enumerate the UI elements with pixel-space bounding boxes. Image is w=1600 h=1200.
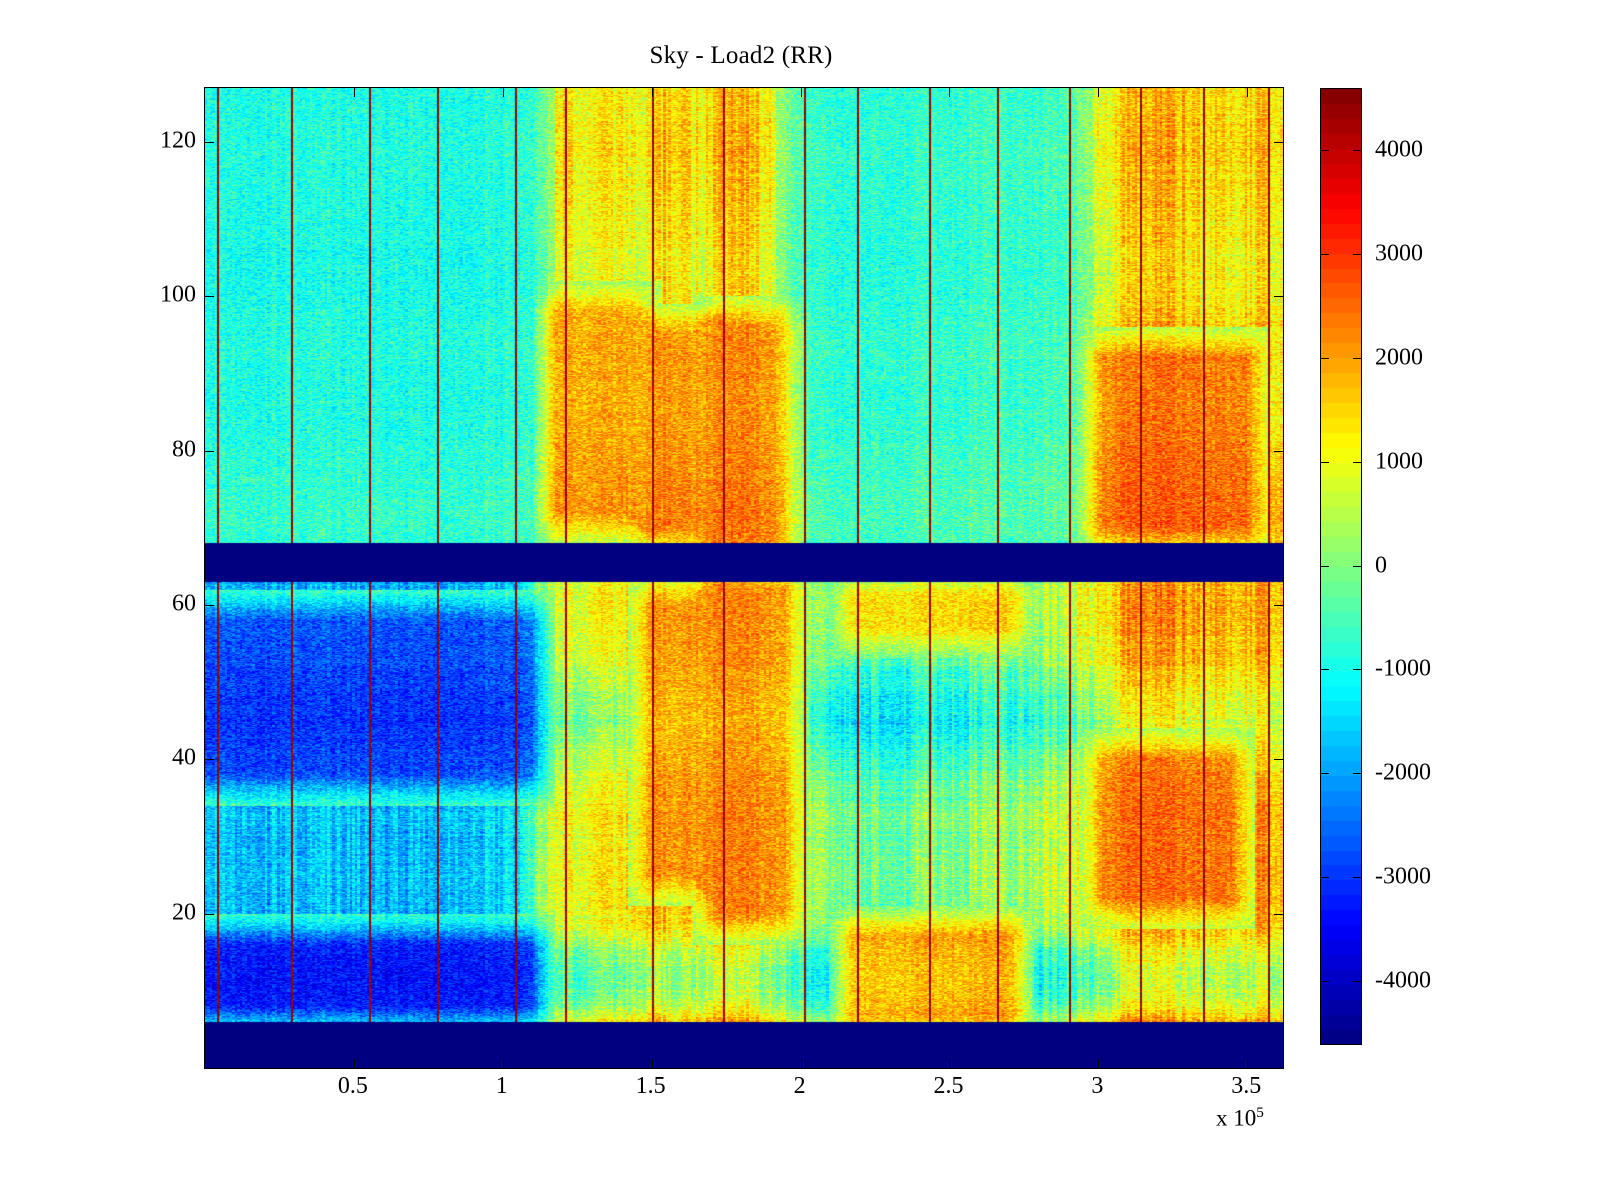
y-tick-mark xyxy=(205,605,214,606)
colorbar-tick-mark xyxy=(1321,877,1329,878)
x-tick-mark xyxy=(503,1059,504,1068)
y-tick-label: 120 xyxy=(160,128,196,155)
colorbar-tick-mark xyxy=(1321,150,1329,151)
colorbar-tick-label: -1000 xyxy=(1375,656,1431,683)
x-axis-exponent-mantissa: x 10 xyxy=(1216,1106,1256,1131)
heatmap-image xyxy=(205,88,1283,1068)
x-tick-mark xyxy=(949,1059,950,1068)
colorbar-tick-label: 4000 xyxy=(1375,137,1423,164)
page-title: Sky - Load2 (RR) xyxy=(0,42,1482,70)
x-axis-exponent-power: 5 xyxy=(1256,1104,1264,1121)
x-tick-mark xyxy=(354,88,355,97)
colorbar-tick-mark xyxy=(1321,358,1329,359)
colorbar-tick-mark xyxy=(1321,566,1329,567)
x-tick-mark xyxy=(1247,88,1248,97)
y-tick-mark xyxy=(1274,451,1283,452)
colorbar-tick-label: 2000 xyxy=(1375,344,1423,371)
x-tick-mark xyxy=(652,1059,653,1068)
colorbar-tick-mark xyxy=(1353,462,1361,463)
colorbar-tick-label: -2000 xyxy=(1375,760,1431,787)
y-tick-label: 20 xyxy=(172,899,196,926)
colorbar-tick-mark xyxy=(1353,877,1361,878)
x-axis-exponent-label: x 105 xyxy=(1216,1104,1264,1132)
y-tick-label: 100 xyxy=(160,282,196,309)
y-tick-mark xyxy=(205,451,214,452)
y-tick-mark xyxy=(1274,759,1283,760)
colorbar-tick-mark xyxy=(1353,150,1361,151)
colorbar-tick-label: 1000 xyxy=(1375,448,1423,475)
x-tick-mark xyxy=(1247,1059,1248,1068)
figure-canvas: Sky - Load2 (RR) 0.511.522.533.5 1201008… xyxy=(0,0,1600,1200)
colorbar[interactable] xyxy=(1320,88,1362,1045)
colorbar-tick-label: -4000 xyxy=(1375,967,1431,994)
colorbar-tick-mark xyxy=(1353,773,1361,774)
colorbar-tick-label: 0 xyxy=(1375,552,1387,579)
x-tick-label: 1.5 xyxy=(636,1073,666,1100)
y-tick-mark xyxy=(1274,605,1283,606)
y-tick-mark xyxy=(205,296,214,297)
x-tick-label: 1 xyxy=(496,1073,508,1100)
y-tick-mark xyxy=(1274,142,1283,143)
x-tick-label: 2 xyxy=(794,1073,806,1100)
colorbar-tick-mark xyxy=(1353,358,1361,359)
y-tick-label: 80 xyxy=(172,436,196,463)
x-tick-mark xyxy=(801,1059,802,1068)
colorbar-gradient xyxy=(1320,88,1362,1045)
colorbar-tick-mark xyxy=(1321,254,1329,255)
x-tick-mark xyxy=(1098,88,1099,97)
heatmap-axes[interactable] xyxy=(204,87,1284,1069)
colorbar-tick-mark xyxy=(1321,773,1329,774)
colorbar-tick-mark xyxy=(1321,669,1329,670)
y-tick-mark xyxy=(1274,914,1283,915)
x-tick-mark xyxy=(949,88,950,97)
colorbar-tick-mark xyxy=(1353,669,1361,670)
colorbar-tick-mark xyxy=(1321,462,1329,463)
y-tick-mark xyxy=(205,759,214,760)
x-tick-mark xyxy=(801,88,802,97)
y-tick-mark xyxy=(205,142,214,143)
colorbar-tick-label: -3000 xyxy=(1375,863,1431,890)
x-tick-mark xyxy=(1098,1059,1099,1068)
x-tick-label: 2.5 xyxy=(933,1073,963,1100)
colorbar-tick-mark xyxy=(1353,981,1361,982)
colorbar-tick-label: 3000 xyxy=(1375,241,1423,268)
x-tick-mark xyxy=(354,1059,355,1068)
x-tick-mark xyxy=(503,88,504,97)
colorbar-tick-mark xyxy=(1353,254,1361,255)
x-tick-mark xyxy=(652,88,653,97)
x-tick-label: 3.5 xyxy=(1231,1073,1261,1100)
colorbar-tick-mark xyxy=(1321,981,1329,982)
y-tick-label: 60 xyxy=(172,591,196,618)
y-tick-mark xyxy=(205,914,214,915)
y-tick-label: 40 xyxy=(172,745,196,772)
colorbar-tick-mark xyxy=(1353,566,1361,567)
x-tick-label: 0.5 xyxy=(338,1073,368,1100)
y-tick-mark xyxy=(1274,296,1283,297)
x-tick-label: 3 xyxy=(1091,1073,1103,1100)
